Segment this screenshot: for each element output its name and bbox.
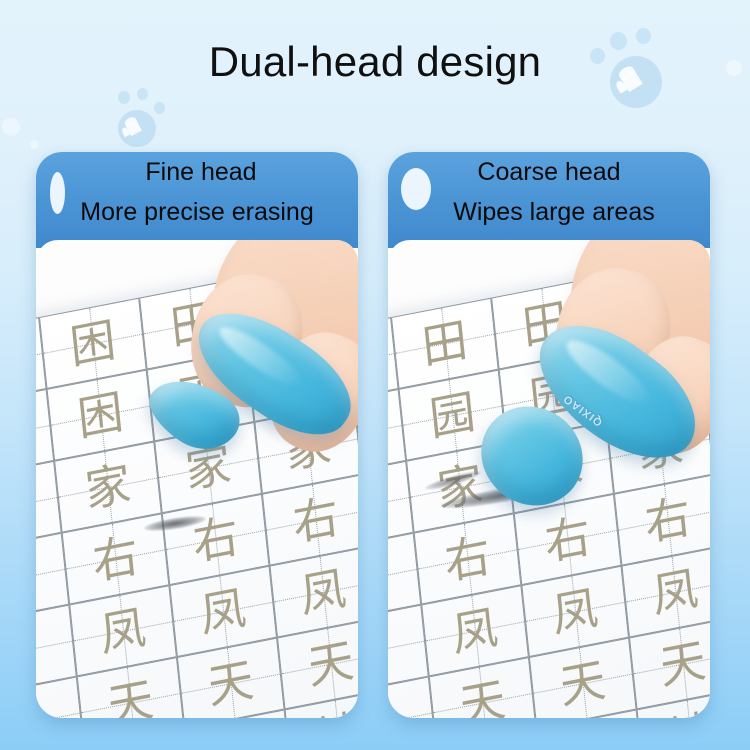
card-photo: 田田田田园园园园家家家家右右右右凤凤凤凤天天天天地地地地 QIXIAO bbox=[388, 240, 710, 718]
card-heading: Coarse head bbox=[388, 158, 710, 187]
product-feature-banner: Dual-head design Fine head More precise … bbox=[0, 0, 750, 750]
card-header: Coarse head Wipes large areas bbox=[388, 152, 710, 248]
card-photo: 困田田田困困园园家家家家右右右右凤凤凤凤天天天天地地地地 bbox=[36, 240, 358, 718]
paw-toe bbox=[137, 88, 148, 100]
bubble-decoration bbox=[30, 140, 39, 149]
page-title: Dual-head design bbox=[0, 38, 750, 86]
paw-print-icon bbox=[104, 88, 188, 162]
paw-toe bbox=[154, 102, 165, 114]
card-subheading: Wipes large areas bbox=[388, 198, 710, 227]
card-heading: Fine head bbox=[36, 158, 358, 187]
card-subheading: More precise erasing bbox=[36, 198, 358, 227]
paw-toe bbox=[118, 91, 130, 104]
feature-card-coarse-head: Coarse head Wipes large areas 田田田田园园园园家家… bbox=[388, 152, 710, 718]
bubble-decoration bbox=[2, 118, 20, 136]
card-header: Fine head More precise erasing bbox=[36, 152, 358, 248]
feature-card-fine-head: Fine head More precise erasing 困田田田困困园园家… bbox=[36, 152, 358, 718]
